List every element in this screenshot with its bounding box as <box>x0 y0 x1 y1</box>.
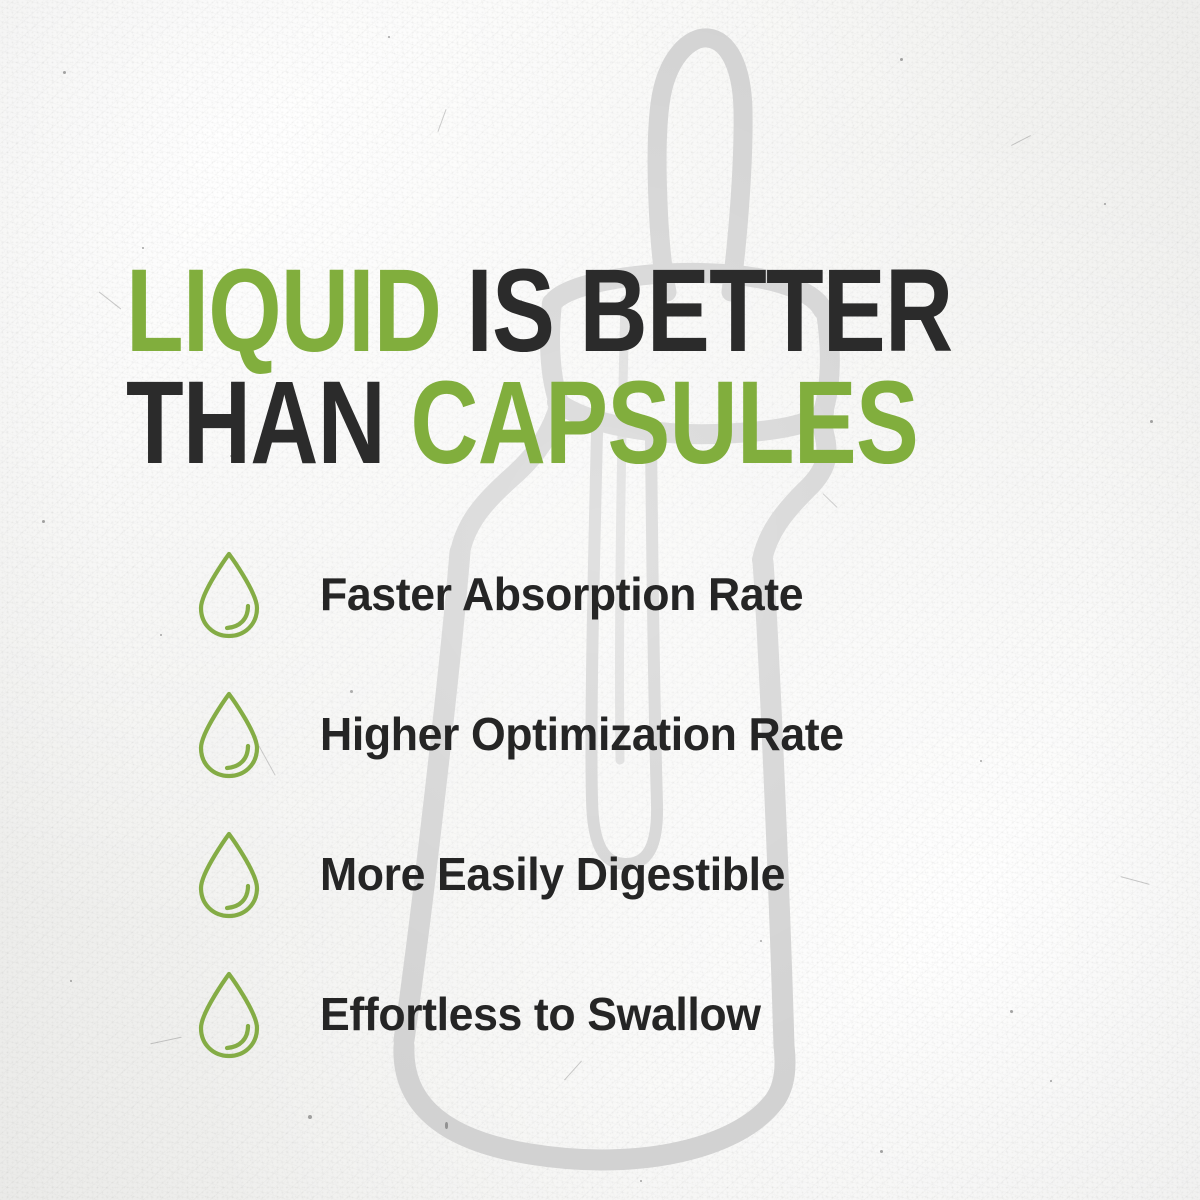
benefit-item-2: Higher Optimization Rate <box>196 664 1136 804</box>
benefit-label: Faster Absorption Rate <box>320 571 803 617</box>
headline: LIQUID IS BETTER THAN CAPSULES <box>126 255 910 479</box>
headline-word-capsules: CAPSULES <box>410 357 918 489</box>
benefit-item-4: Effortless to Swallow <box>196 944 1136 1084</box>
benefit-item-1: Faster Absorption Rate <box>196 524 1136 664</box>
benefits-list: Faster Absorption Rate Higher Optimizati… <box>196 524 1136 1084</box>
benefit-item-3: More Easily Digestible <box>196 804 1136 944</box>
water-drop-icon <box>196 548 262 640</box>
water-drop-icon <box>196 688 262 780</box>
headline-line-1: LIQUID IS BETTER <box>126 255 910 367</box>
headline-text-than: THAN <box>126 357 410 489</box>
water-drop-icon <box>196 968 262 1060</box>
benefit-label: Higher Optimization Rate <box>320 711 844 757</box>
water-drop-icon <box>196 828 262 920</box>
poster-canvas: LIQUID IS BETTER THAN CAPSULES Faster Ab… <box>0 0 1200 1200</box>
headline-line-2: THAN CAPSULES <box>126 367 910 479</box>
benefit-label: Effortless to Swallow <box>320 991 761 1037</box>
benefit-label: More Easily Digestible <box>320 851 785 897</box>
